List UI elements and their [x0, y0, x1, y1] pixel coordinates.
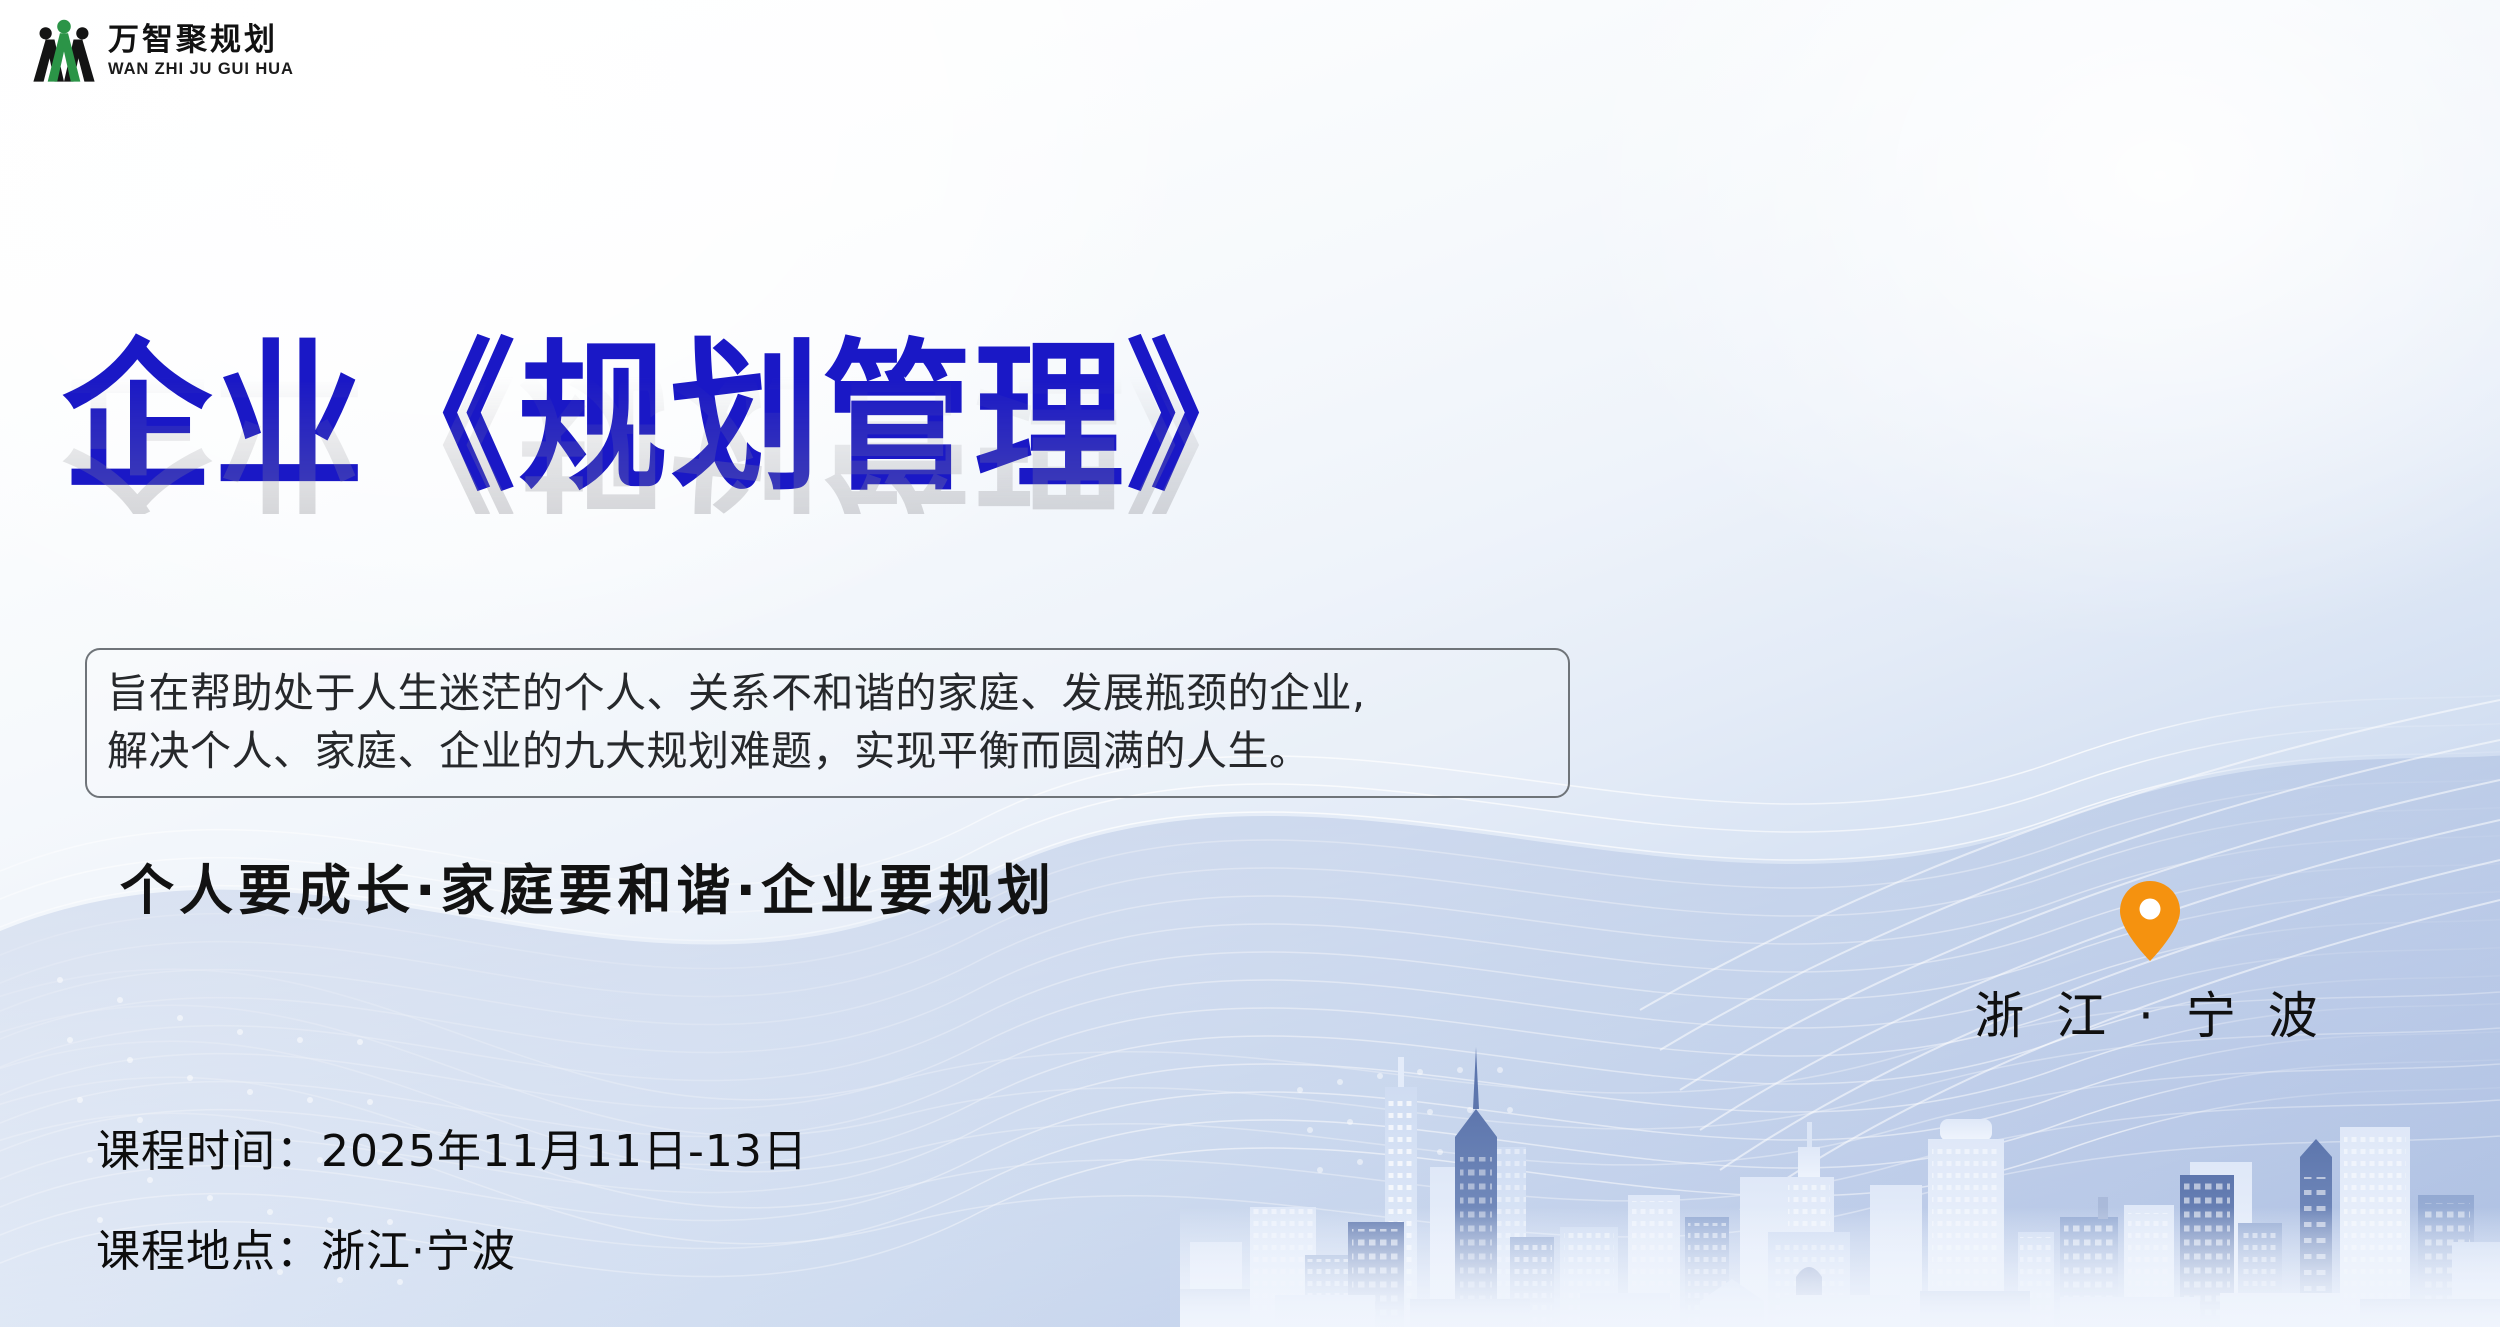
brand-wordmark: 万智聚规划 WAN ZHI JU GUI HUA — [108, 25, 294, 78]
three-people-logo-icon — [30, 18, 98, 84]
location-badge: 浙 江 · 宁 波 — [1940, 880, 2360, 1048]
brand-logo[interactable]: 万智聚规划 WAN ZHI JU GUI HUA — [30, 18, 294, 84]
location-text: 浙 江 · 宁 波 — [1974, 976, 2325, 1048]
promo-banner: 万智聚规划 WAN ZHI JU GUI HUA 企业《规划管理》 企业《规划管… — [0, 0, 2500, 1327]
brand-name-cn: 万智聚规划 — [108, 25, 294, 56]
skyline-haze — [1180, 1207, 2500, 1327]
description-line-1: 旨在帮助处于人生迷茫的个人、关系不和谐的家庭、发展瓶颈的企业, — [107, 664, 1546, 722]
course-time: 课程时间：2025年11月11日-13日 — [96, 1115, 808, 1179]
description-box: 旨在帮助处于人生迷茫的个人、关系不和谐的家庭、发展瓶颈的企业, 解决个人、家庭、… — [85, 648, 1570, 798]
tagline: 个人要成长·家庭要和谐·企业要规划 — [120, 846, 1056, 925]
course-info-block: 课程时间：2025年11月11日-13日 课程地点：浙江·宁波 — [96, 1115, 808, 1279]
course-place: 课程地点：浙江·宁波 — [96, 1215, 808, 1279]
hero-title-block: 企业《规划管理》 企业《规划管理》 — [62, 338, 1622, 638]
title-reflection: 企业《规划管理》 — [62, 364, 1278, 514]
top-right-glow — [1560, 0, 2500, 650]
map-pin-icon — [2119, 880, 2181, 962]
description-line-2: 解决个人、家庭、企业的九大规划难题，实现平衡而圆满的人生。 — [107, 722, 1546, 780]
brand-name-en: WAN ZHI JU GUI HUA — [108, 61, 294, 78]
